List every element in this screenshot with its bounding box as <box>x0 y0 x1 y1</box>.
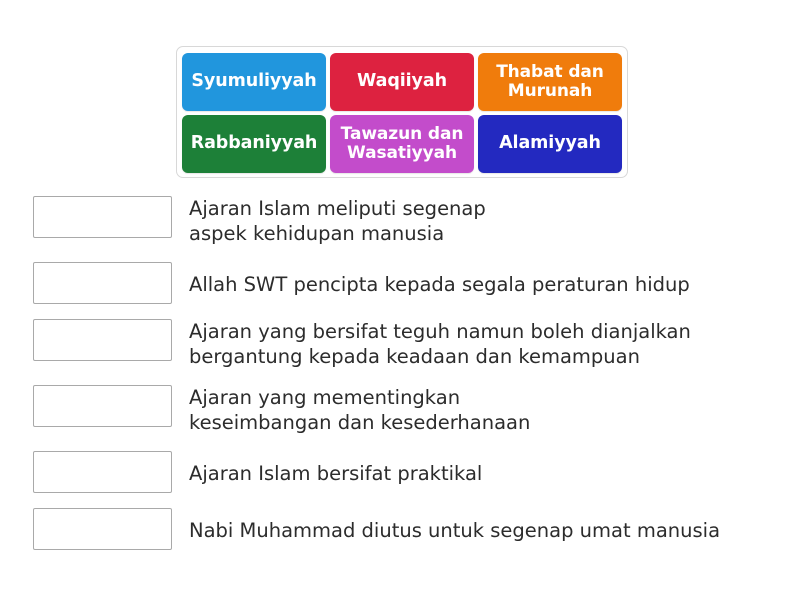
answer-row: Ajaran yang bersifat teguh namun boleh d… <box>33 319 773 370</box>
drop-target[interactable] <box>33 262 172 304</box>
tile-rabbaniyyah[interactable]: Rabbaniyyah <box>182 115 326 173</box>
drop-target[interactable] <box>33 196 172 238</box>
drop-target[interactable] <box>33 451 172 493</box>
tile-waqiiyah[interactable]: Waqiiyah <box>330 53 474 111</box>
answer-text: Allah SWT pencipta kepada segala peratur… <box>189 262 690 298</box>
tile-label: Tawazun dan Wasatiyyah <box>333 125 471 163</box>
tile-row: Syumuliyyah Waqiiyah Thabat dan Murunah <box>182 53 622 111</box>
answer-text: Ajaran yang mementingkan keseimbangan da… <box>189 385 530 436</box>
answer-list: Ajaran Islam meliputi segenap aspek kehi… <box>33 196 773 565</box>
answer-text: Ajaran Islam meliputi segenap aspek kehi… <box>189 196 486 247</box>
tile-label: Alamiyyah <box>499 134 601 154</box>
answer-row: Nabi Muhammad diutus untuk segenap umat … <box>33 508 773 550</box>
tile-row: Rabbaniyyah Tawazun dan Wasatiyyah Alami… <box>182 115 622 173</box>
draggable-tiles-panel: Syumuliyyah Waqiiyah Thabat dan Murunah … <box>176 46 628 178</box>
drop-target[interactable] <box>33 319 172 361</box>
answer-row: Allah SWT pencipta kepada segala peratur… <box>33 262 773 304</box>
drop-target[interactable] <box>33 508 172 550</box>
tile-alamiyyah[interactable]: Alamiyyah <box>478 115 622 173</box>
tile-label: Thabat dan Murunah <box>481 63 619 101</box>
drop-target[interactable] <box>33 385 172 427</box>
tile-label: Waqiiyah <box>357 72 447 92</box>
tile-label: Syumuliyyah <box>191 72 316 92</box>
tile-syumuliyyah[interactable]: Syumuliyyah <box>182 53 326 111</box>
tile-label: Rabbaniyyah <box>191 134 318 154</box>
answer-text: Nabi Muhammad diutus untuk segenap umat … <box>189 508 720 544</box>
answer-text: Ajaran yang bersifat teguh namun boleh d… <box>189 319 691 370</box>
answer-text: Ajaran Islam bersifat praktikal <box>189 451 482 487</box>
answer-row: Ajaran yang mementingkan keseimbangan da… <box>33 385 773 436</box>
answer-row: Ajaran Islam bersifat praktikal <box>33 451 773 493</box>
answer-row: Ajaran Islam meliputi segenap aspek kehi… <box>33 196 773 247</box>
tile-thabat-dan-murunah[interactable]: Thabat dan Murunah <box>478 53 622 111</box>
tile-tawazun-dan-wasatiyyah[interactable]: Tawazun dan Wasatiyyah <box>330 115 474 173</box>
